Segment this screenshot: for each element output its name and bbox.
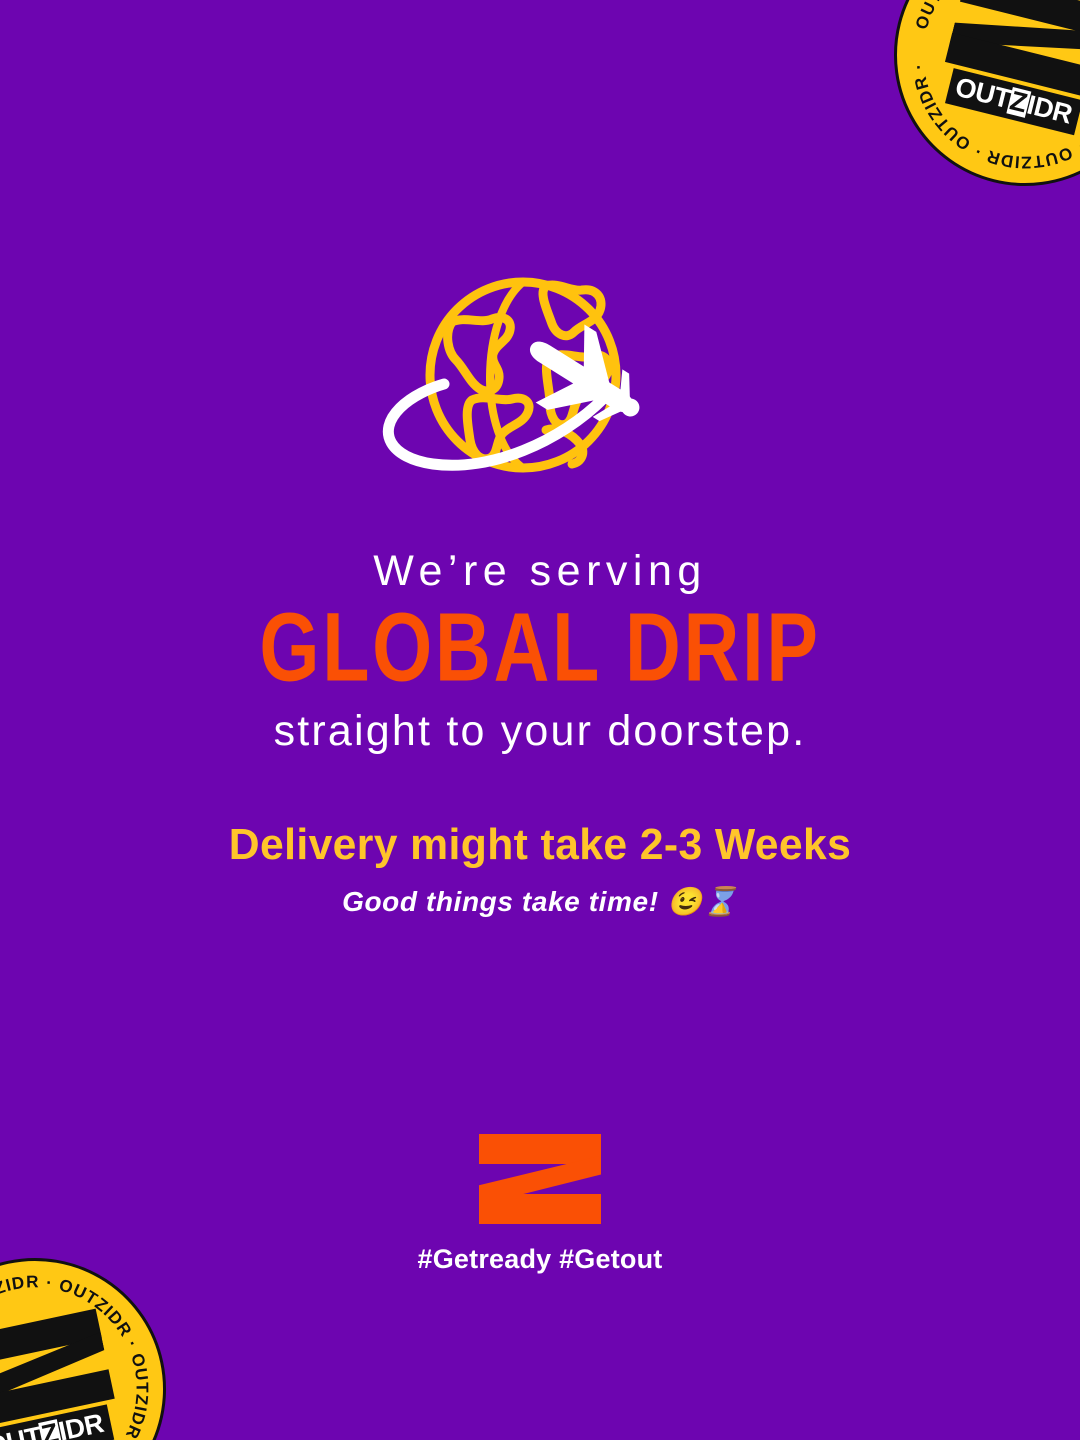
wordmark-post: IDR: [56, 1410, 106, 1440]
outzidr-z-logo-icon: [479, 1134, 601, 1224]
eyebrow-text: We’re serving: [0, 548, 1080, 594]
globe-with-airplane-icon: [360, 272, 720, 504]
badge-outzidr-top-right: OUTZIDR · OUTZIDR · OUTZIDR · OUTZIDR · …: [866, 0, 1080, 214]
hashtags-text: #Getready #Getout: [418, 1244, 663, 1275]
promo-copy-block: We’re serving GLOBAL DRIP straight to yo…: [0, 548, 1080, 919]
subline-text: straight to your doorstep.: [0, 708, 1080, 755]
wordmark-pre: OUT: [0, 1423, 44, 1440]
airplane-icon: [507, 306, 663, 451]
reassurance-text: Good things take time! 😉⌛: [0, 885, 1080, 919]
delivery-notice-text: Delivery might take 2-3 Weeks: [16, 821, 1064, 869]
headline-text: GLOBAL DRIP: [43, 591, 1037, 706]
wordmark-pre: OUT: [953, 74, 1013, 114]
footer-brand-block: #Getready #Getout: [0, 1134, 1080, 1275]
wordmark-post: IDR: [1024, 91, 1074, 128]
continent-americas: [448, 318, 511, 391]
